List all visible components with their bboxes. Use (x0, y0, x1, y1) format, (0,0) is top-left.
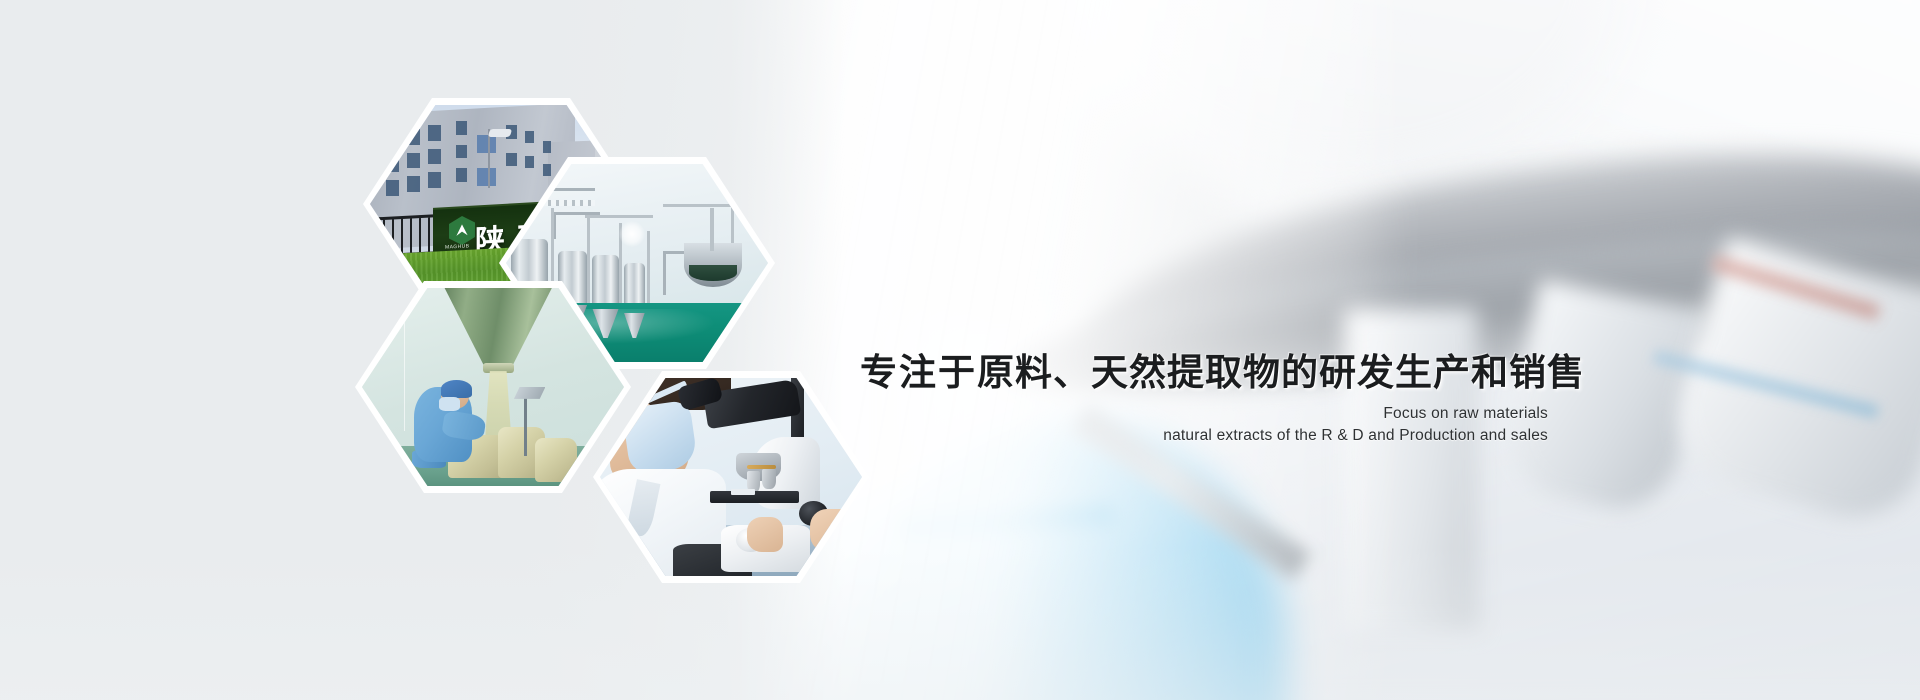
workshop-pipe (647, 231, 650, 302)
extraction-kettle-contents (689, 265, 736, 281)
subtitle-line-1: Focus on raw materials (860, 403, 1548, 425)
factory-light-pole (488, 129, 490, 188)
worker-cap (441, 380, 472, 398)
worker-face-mask (439, 397, 460, 411)
factory-window (428, 149, 441, 165)
extraction-tank (592, 255, 618, 303)
factory-ac-unit (477, 135, 495, 153)
microscope-objective-lens (762, 469, 775, 489)
headline-emphasis: 原料、天然提取物的研发生产和销售 (977, 352, 1585, 393)
factory-window (407, 153, 420, 169)
factory-window (428, 172, 441, 188)
factory-window (407, 176, 420, 192)
banner-subtitle: Focus on raw materials natural extracts … (860, 403, 1548, 447)
factory-window (506, 153, 516, 167)
factory-window (525, 131, 534, 143)
factory-window (386, 133, 399, 149)
factory-window (428, 125, 441, 141)
hexagon-photo-cluster: MAGHUB 陕西万源 (0, 0, 900, 700)
workshop-pipe (663, 204, 763, 207)
workshop-pipe (587, 215, 590, 302)
factory-ac-unit (477, 168, 495, 186)
workshop-pipe (585, 215, 653, 218)
factory-lamp-head (488, 129, 512, 137)
hero-banner: MAGHUB 陕西万源 (0, 0, 1920, 700)
workshop-ceiling-light (619, 221, 645, 247)
kettle-stirrer-shaft (710, 208, 714, 252)
banner-headline: 专注于原料、天然提取物的研发生产和销售 (860, 352, 1560, 393)
factory-window (456, 121, 466, 135)
microscope-slide (731, 489, 755, 495)
factory-window (543, 141, 551, 153)
researcher-left-hand (747, 517, 784, 553)
subtitle-line-2: natural extracts of the R & D and Produc… (860, 425, 1548, 447)
extraction-tank (624, 263, 645, 303)
factory-window (543, 164, 551, 176)
factory-window (525, 156, 534, 168)
cleanroom-wall-corner (404, 288, 405, 431)
factory-window (456, 168, 466, 182)
factory-window (456, 145, 466, 159)
factory-window (386, 180, 399, 196)
headline-lead: 专注于 (860, 352, 977, 393)
equipment-stand (524, 391, 527, 456)
banner-text-block: 专注于原料、天然提取物的研发生产和销售 Focus on raw materia… (860, 352, 1560, 447)
